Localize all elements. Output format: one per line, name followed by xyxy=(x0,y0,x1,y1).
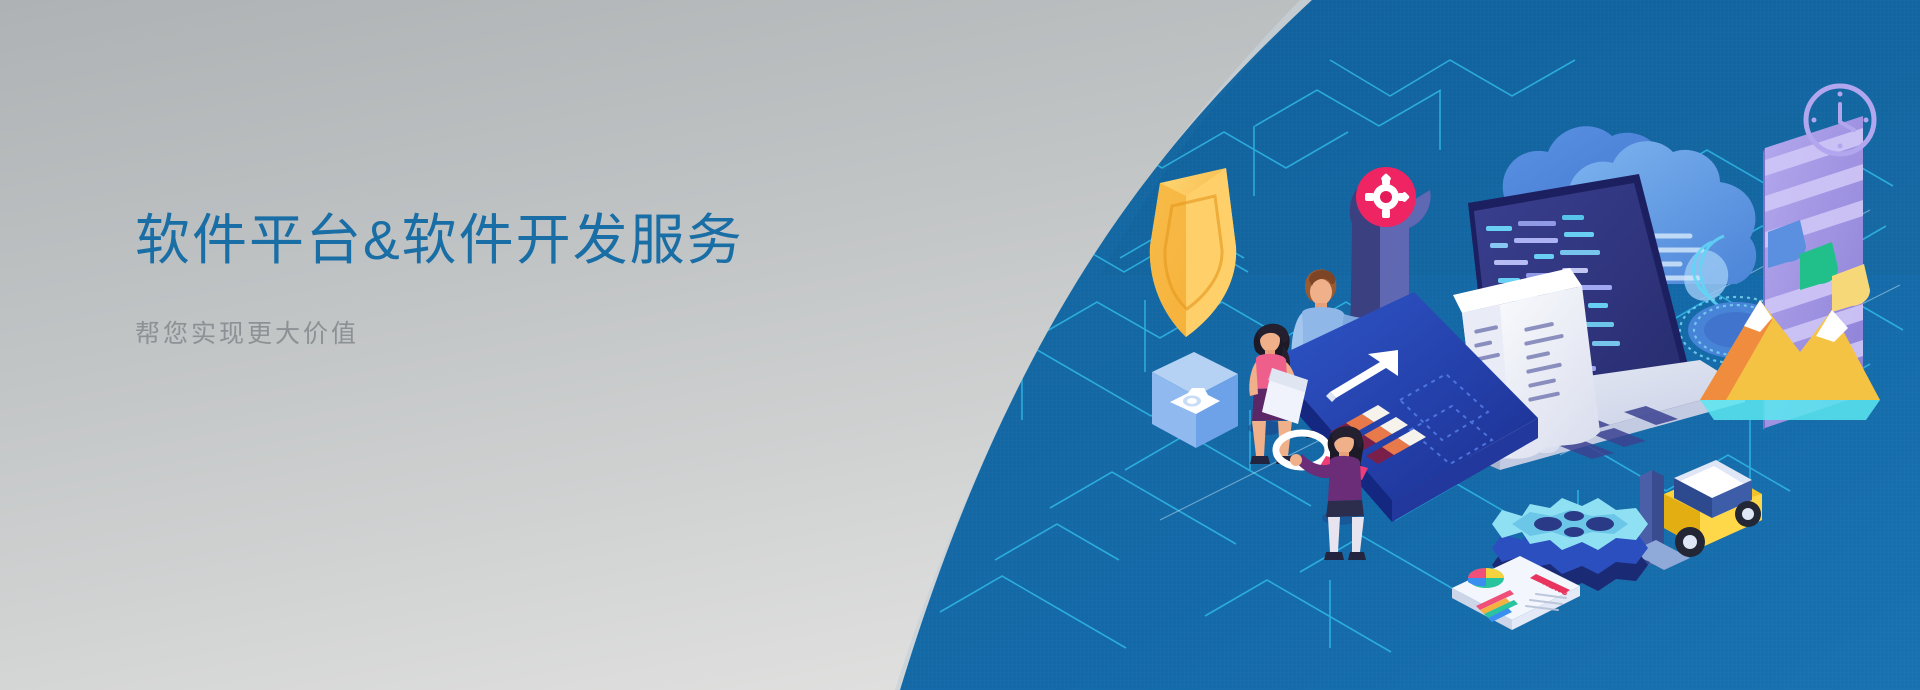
shield-icon xyxy=(1150,168,1236,337)
analyst-figure-two xyxy=(1290,426,1366,560)
clock-icon xyxy=(1806,86,1874,154)
camera-icon xyxy=(1152,352,1238,448)
news-pie-chart xyxy=(1468,568,1504,588)
gear-badge-icon xyxy=(1356,167,1416,227)
illustration: NEWS xyxy=(0,0,1920,690)
hero-banner: NEWS 软件平台&软件开发服务 帮您实现更大价值 xyxy=(0,0,1920,690)
